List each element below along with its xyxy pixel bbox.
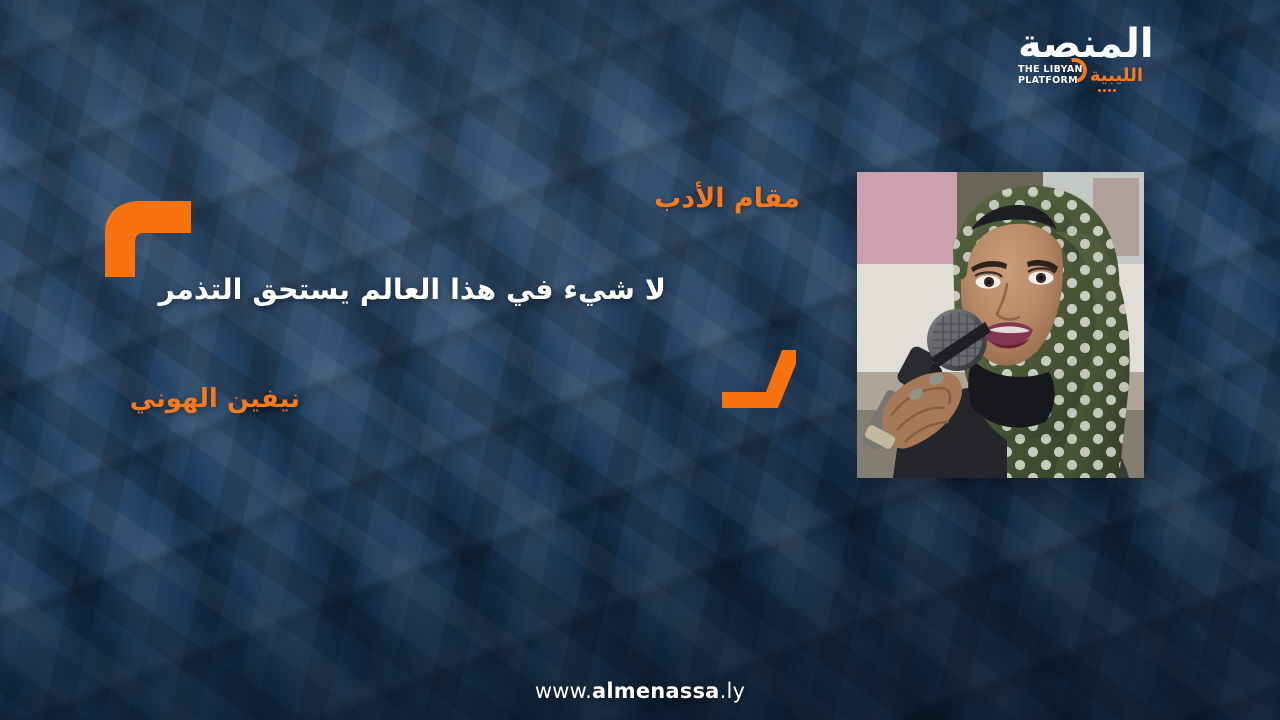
category-label: مقام الأدب: [654, 183, 800, 214]
quote-card-canvas: المنصة الليبية THE LIBYAN PLATFORM مقام …: [0, 0, 1280, 720]
footer-website-url[interactable]: www.almenassa.ly: [0, 679, 1280, 703]
quote-open-icon: [103, 199, 193, 277]
footer-url-name: almenassa: [592, 679, 720, 703]
footer-url-tld: .ly: [720, 679, 746, 703]
author-name: نيفين الهوني: [130, 384, 300, 414]
logo-wordmark-arabic: المنصة: [1018, 24, 1154, 64]
logo-tagline-arabic: الليبية: [1090, 67, 1143, 85]
quote-text: لا شيء في هذا العالم يستحق التذمر: [146, 268, 666, 312]
logo-tagline-row: الليبية THE LIBYAN PLATFORM: [1018, 65, 1168, 86]
logo-wordmark-row: المنصة: [1018, 22, 1168, 64]
quote-close-icon: [722, 350, 796, 408]
portrait-photo: [857, 172, 1144, 478]
logo-dots-decoration: [1098, 89, 1116, 92]
brand-logo[interactable]: المنصة الليبية THE LIBYAN PLATFORM: [1018, 22, 1168, 90]
portrait-artwork: [857, 172, 1144, 478]
footer-url-prefix: www.: [535, 679, 592, 703]
